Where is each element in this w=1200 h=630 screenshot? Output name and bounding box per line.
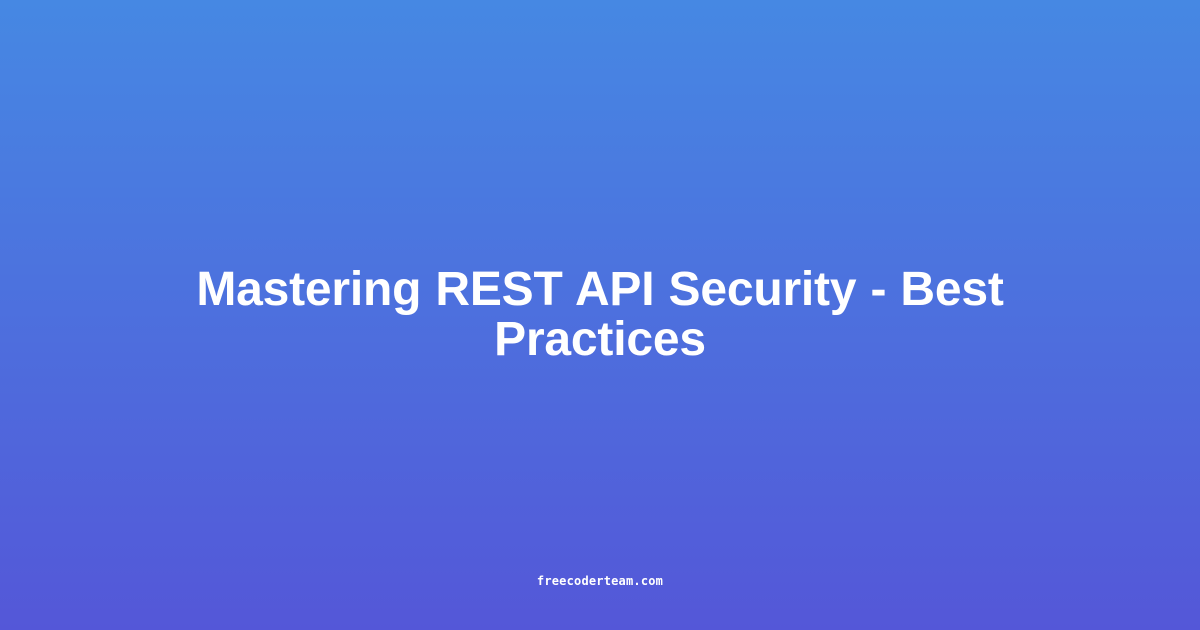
site-name-watermark: freecoderteam.com (537, 574, 663, 588)
title-block: Mastering REST API Security - Best Pract… (0, 0, 1200, 630)
og-banner: Mastering REST API Security - Best Pract… (0, 0, 1200, 630)
page-title: Mastering REST API Security - Best Pract… (170, 265, 1030, 365)
banner-footer: freecoderteam.com (0, 572, 1200, 590)
